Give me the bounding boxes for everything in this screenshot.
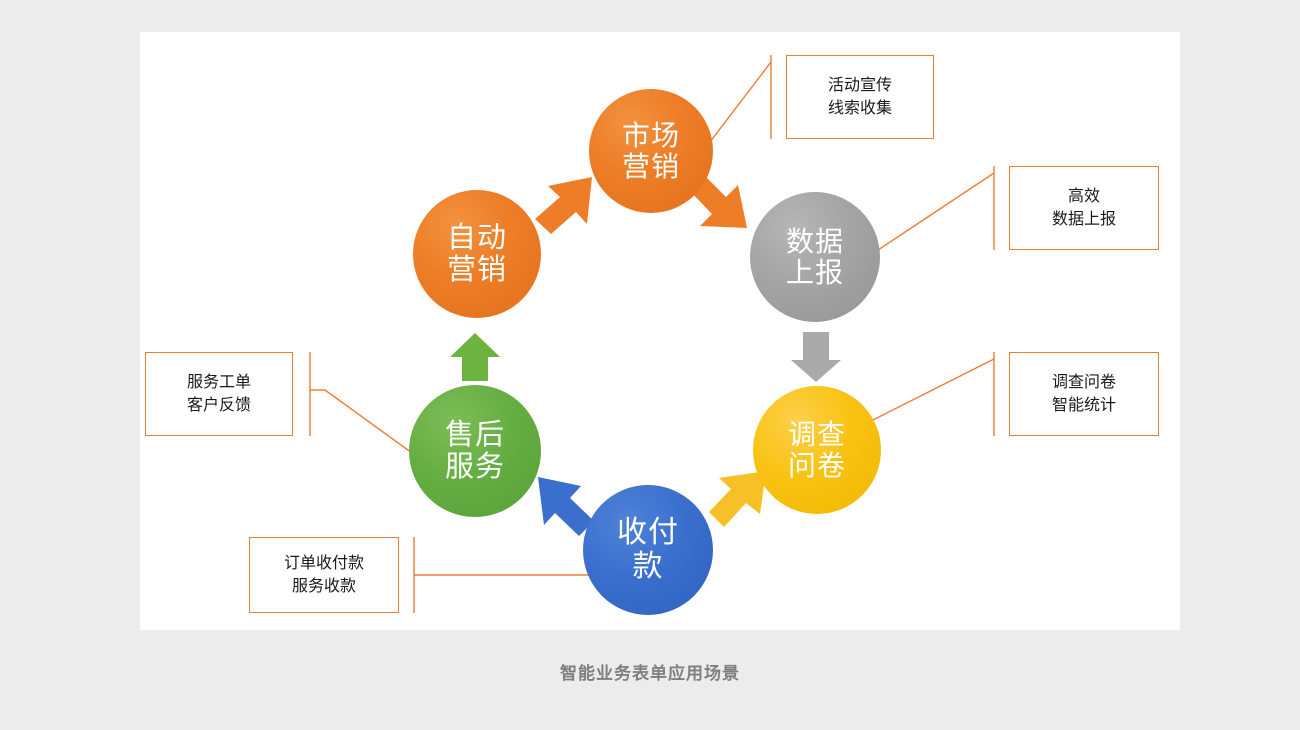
node-survey-line-1: 调查: [788, 419, 846, 450]
callout-payment[interactable]: 订单收付款 服务收款: [249, 537, 399, 613]
callout-data-report[interactable]: 高效 数据上报: [1009, 166, 1159, 250]
node-payment-line-2: 款: [633, 550, 664, 584]
node-marketing-line-1: 市场: [622, 120, 680, 151]
node-after-sales-service[interactable]: 售后 服务: [409, 385, 541, 517]
leader-line-survey: [863, 352, 994, 436]
callout-marketing[interactable]: 活动宣传 线索收集: [786, 55, 934, 139]
callout-data-report-line-2: 数据上报: [1052, 208, 1116, 231]
node-payment-line-1: 收付: [617, 516, 679, 550]
arrow-survey-to-payment: [709, 471, 766, 527]
node-data-report-line-2: 上报: [786, 257, 844, 288]
leader-line-payment: [414, 537, 595, 613]
callout-data-report-line-1: 高效: [1068, 185, 1100, 208]
node-payment[interactable]: 收付 款: [583, 485, 713, 615]
node-auto-marketing[interactable]: 自动 营销: [413, 190, 541, 318]
callout-payment-line-2: 服务收款: [292, 575, 356, 598]
node-survey[interactable]: 调查 问卷: [753, 386, 881, 514]
node-data-report[interactable]: 数据 上报: [750, 192, 880, 322]
cycle-diagram: 市场 营销 数据 上报 调查 问卷 收付 款 售后 服务 自动 营销 活动宣传 …: [0, 0, 1300, 730]
node-data-report-line-1: 数据: [786, 226, 844, 257]
node-marketing[interactable]: 市场 营销: [589, 89, 713, 213]
arrow-service-to-auto: [450, 333, 500, 381]
node-after-sales-service-line-2: 服务: [445, 451, 505, 483]
callout-marketing-line-1: 活动宣传: [828, 74, 892, 97]
node-after-sales-service-line-1: 售后: [445, 419, 505, 451]
node-auto-marketing-line-2: 营销: [447, 254, 507, 286]
callout-after-sales-service-line-1: 服务工单: [187, 371, 251, 394]
node-marketing-line-2: 营销: [622, 151, 680, 182]
callout-after-sales-service-line-2: 客户反馈: [187, 394, 251, 417]
arrow-data-to-survey: [791, 332, 841, 382]
callout-survey-line-1: 调查问卷: [1052, 371, 1116, 394]
leader-line-data: [866, 166, 994, 258]
callout-after-sales-service[interactable]: 服务工单 客户反馈: [145, 352, 293, 436]
node-survey-line-2: 问卷: [788, 450, 846, 481]
callout-payment-line-1: 订单收付款: [284, 552, 364, 575]
callout-survey-line-2: 智能统计: [1052, 394, 1116, 417]
arrow-payment-to-service: [538, 477, 594, 536]
callout-survey[interactable]: 调查问卷 智能统计: [1009, 352, 1159, 436]
slide-caption: 智能业务表单应用场景: [0, 659, 1300, 684]
arrow-auto-to-marketing: [535, 177, 592, 234]
callout-marketing-line-2: 线索收集: [828, 97, 892, 120]
node-auto-marketing-line-1: 自动: [447, 222, 507, 254]
